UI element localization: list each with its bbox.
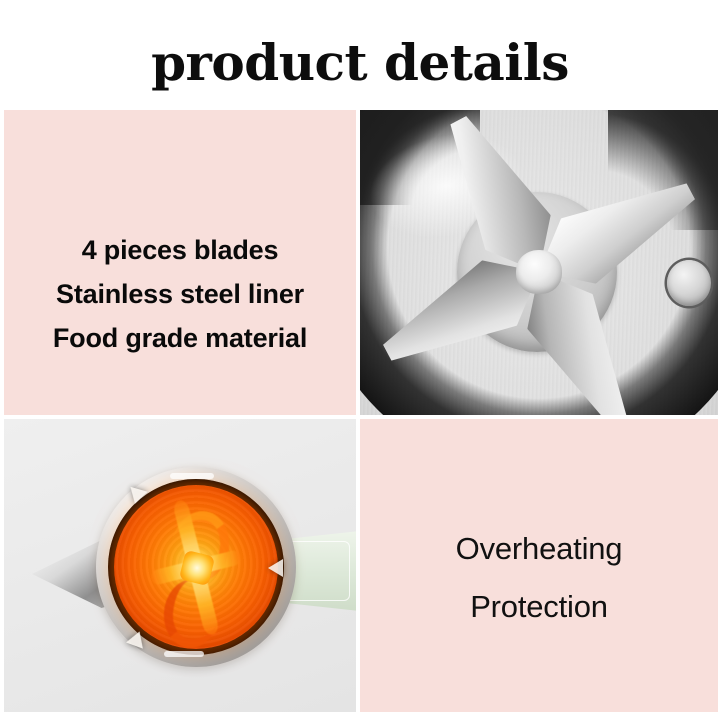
protection-text-block: Overheating Protection xyxy=(360,520,718,636)
heat-arrow-icon-right xyxy=(268,559,283,577)
blade-center-boss xyxy=(516,250,562,294)
jug-rim-mark-bottom xyxy=(164,651,204,657)
feature-list: 4 pieces blades Stainless steel liner Fo… xyxy=(4,228,356,360)
product-details-infographic: product details 4 pieces blades Stainles… xyxy=(0,0,720,720)
jug-rim-mark-top xyxy=(170,473,214,479)
feature-line-1: 4 pieces blades xyxy=(4,228,356,272)
page-title: product details xyxy=(0,36,720,90)
blade-features-panel: 4 pieces blades Stainless steel liner Fo… xyxy=(4,110,356,415)
feature-line-3: Food grade material xyxy=(4,316,356,360)
protection-line-2: Protection xyxy=(360,578,718,636)
overheating-protection-panel: Overheating Protection xyxy=(360,419,718,712)
rivet-icon xyxy=(667,260,711,306)
overheating-thermal-photo xyxy=(4,419,356,712)
content-grid: 4 pieces blades Stainless steel liner Fo… xyxy=(4,110,718,712)
blade-closeup-photo xyxy=(360,110,718,415)
thermal-photo-image xyxy=(4,419,356,712)
feature-line-2: Stainless steel liner xyxy=(4,272,356,316)
blade-photo-image xyxy=(360,110,718,415)
protection-line-1: Overheating xyxy=(360,520,718,578)
